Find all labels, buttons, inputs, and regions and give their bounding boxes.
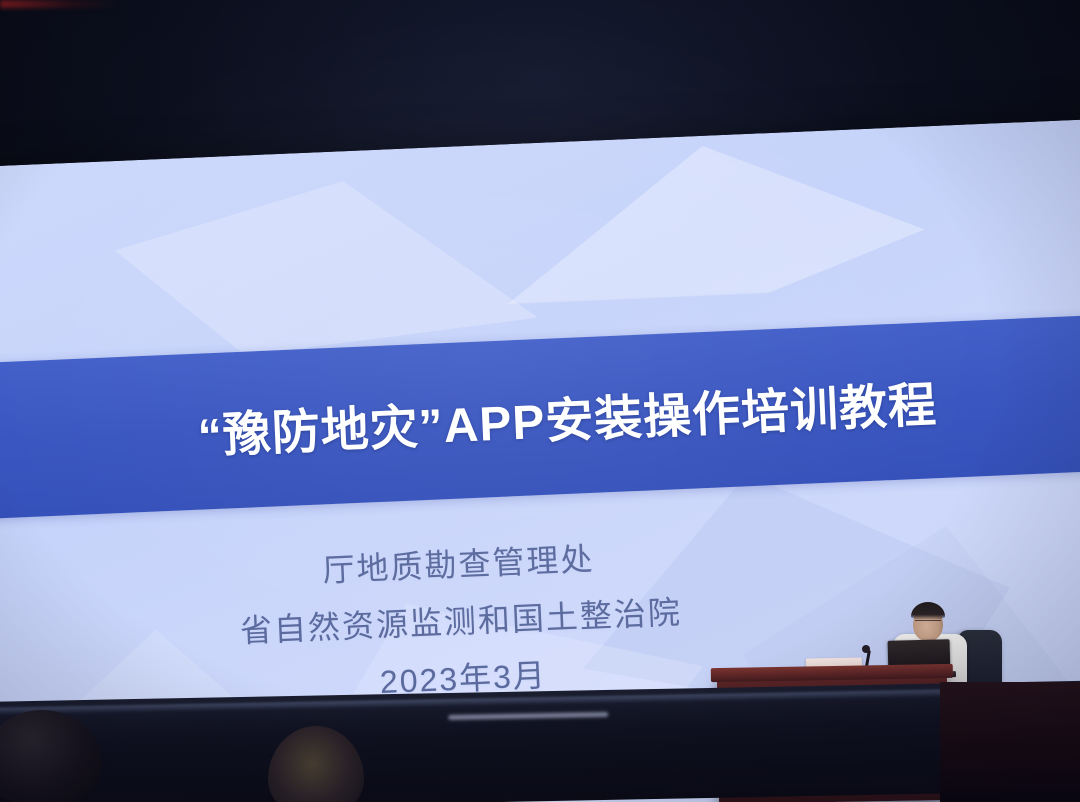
conference-photo: “豫防地灾”APP安装操作培训教程 厅地质勘查管理处 省自然资源监测和国土整治院…	[0, 0, 1080, 802]
microphone-head	[862, 645, 870, 653]
slide-title: “豫防地灾”APP安装操作培训教程	[166, 365, 938, 468]
ceiling-light-streak	[0, 0, 120, 8]
stage-floor	[0, 681, 1080, 802]
stage-reflection	[448, 712, 608, 720]
background-polygon	[501, 137, 927, 305]
stage-right-wall	[940, 682, 1080, 802]
slide-title-band: “豫防地灾”APP安装操作培训教程	[0, 313, 1080, 521]
background-polygon	[112, 173, 539, 361]
glasses-icon	[915, 620, 941, 626]
desk-top	[711, 664, 953, 682]
